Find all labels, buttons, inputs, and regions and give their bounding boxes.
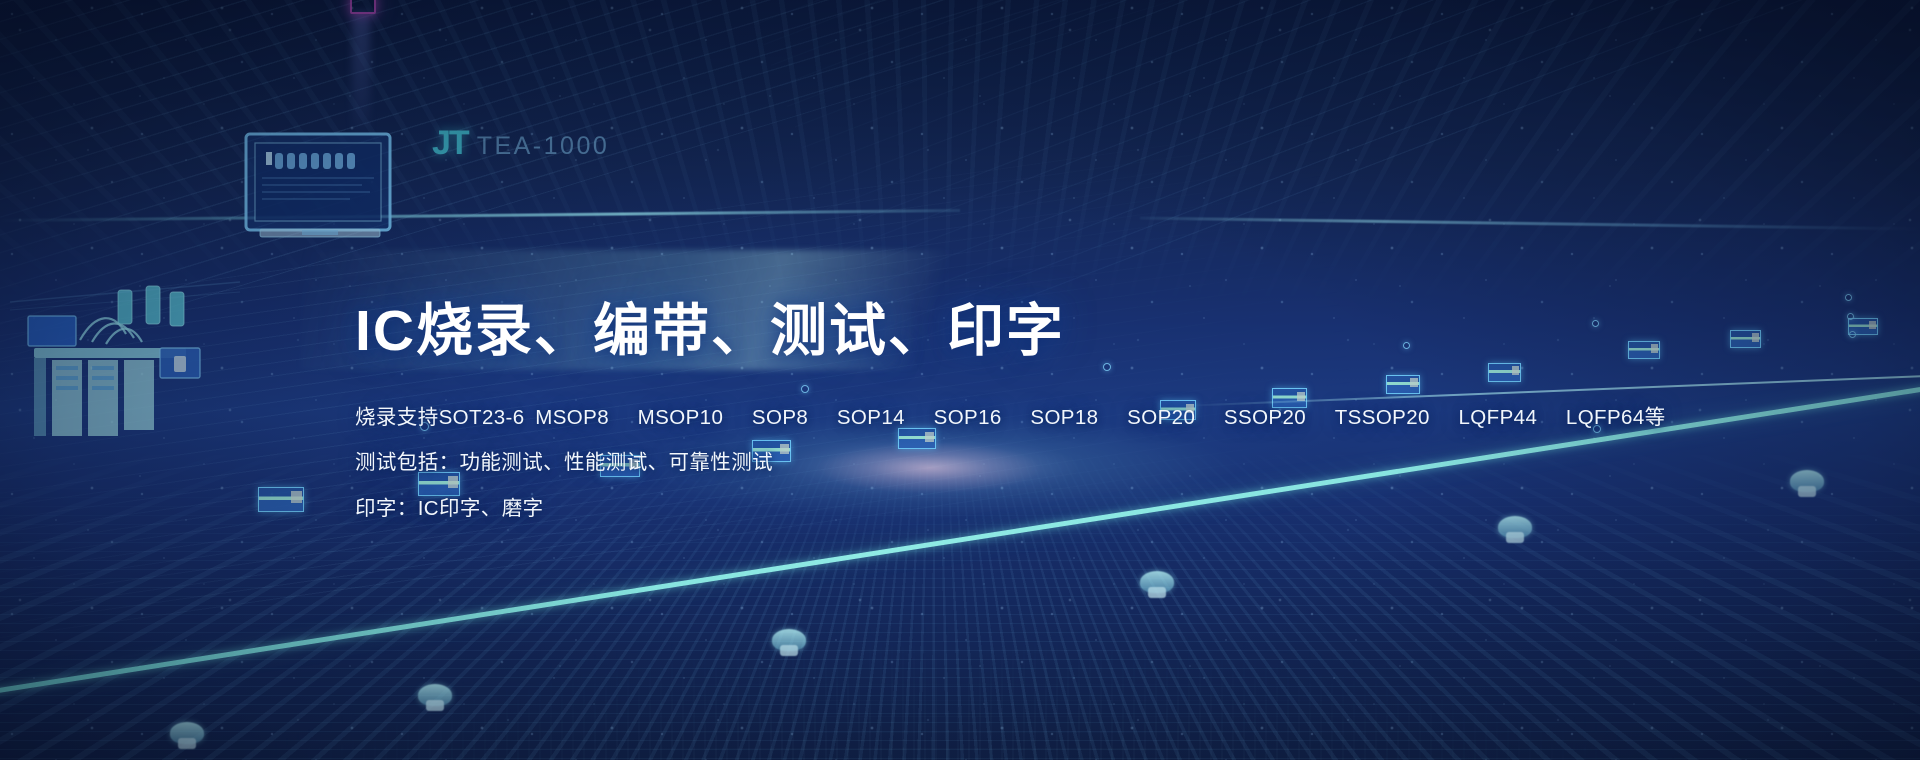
rail-mount-fixture — [170, 722, 204, 744]
test-scope-line: 测试包括：功能测试、性能测试、可靠性测试 — [355, 453, 1695, 474]
rail-mount-fixture — [772, 629, 806, 651]
hero-banner: JT TEA-1000 — [0, 0, 1920, 760]
sensor-node-icon — [1849, 331, 1856, 338]
package-label: MSOP8 — [535, 406, 609, 429]
hero-description-block: 烧录支持SOT23-6 MSOP8 MSOP10 SOP8 SOP14 SOP1… — [355, 408, 1695, 520]
industrial-machine-illustration — [10, 262, 240, 462]
sensor-node-icon — [1845, 294, 1852, 301]
package-label: SOP14 — [837, 406, 905, 429]
package-label: TSSOP20 — [1335, 406, 1430, 429]
package-label: SOP8 — [752, 406, 808, 429]
logo-model-text: TEA-1000 — [477, 132, 610, 161]
burn-support-prefix: 烧录支持SOT23-6 — [355, 406, 525, 429]
package-label: MSOP10 — [638, 406, 724, 429]
chip-panel-icon — [1730, 330, 1761, 348]
equipment-logo: JT TEA-1000 — [432, 124, 609, 163]
page-title: IC烧录、编带、测试、印字 — [355, 300, 1695, 364]
sensor-node-icon — [1847, 313, 1854, 320]
logo-mark-text: JT — [432, 124, 468, 163]
rail-mount-fixture — [1790, 470, 1824, 492]
package-list: MSOP8 MSOP10 SOP8 SOP14 SOP16 SOP18 SOP2… — [525, 406, 1666, 429]
monitor-display — [242, 130, 394, 250]
rail-mount-fixture — [1140, 571, 1174, 593]
upper-shelf-left — [0, 209, 960, 222]
magenta-marker-icon — [350, 0, 376, 14]
machine-icon — [10, 262, 240, 462]
package-label: LQFP64等 — [1566, 406, 1666, 429]
rail-mount-fixture — [418, 684, 452, 706]
hero-content: IC烧录、编带、测试、印字 烧录支持SOT23-6 MSOP8 MSOP10 S… — [355, 300, 1695, 519]
marking-scope-line: 印字：IC印字、磨字 — [355, 499, 1695, 520]
package-label: LQFP44 — [1459, 406, 1538, 429]
package-label: SOP18 — [1030, 406, 1098, 429]
marker-light-beam — [352, 12, 370, 142]
upper-shelf-right — [1140, 217, 1920, 231]
package-label: SOP20 — [1127, 406, 1195, 429]
package-label: SSOP20 — [1224, 406, 1306, 429]
burn-support-line: 烧录支持SOT23-6 MSOP8 MSOP10 SOP8 SOP14 SOP1… — [355, 408, 1695, 429]
chip-panel-icon — [258, 487, 304, 512]
package-label: SOP16 — [934, 406, 1002, 429]
monitor-icon — [242, 130, 394, 250]
